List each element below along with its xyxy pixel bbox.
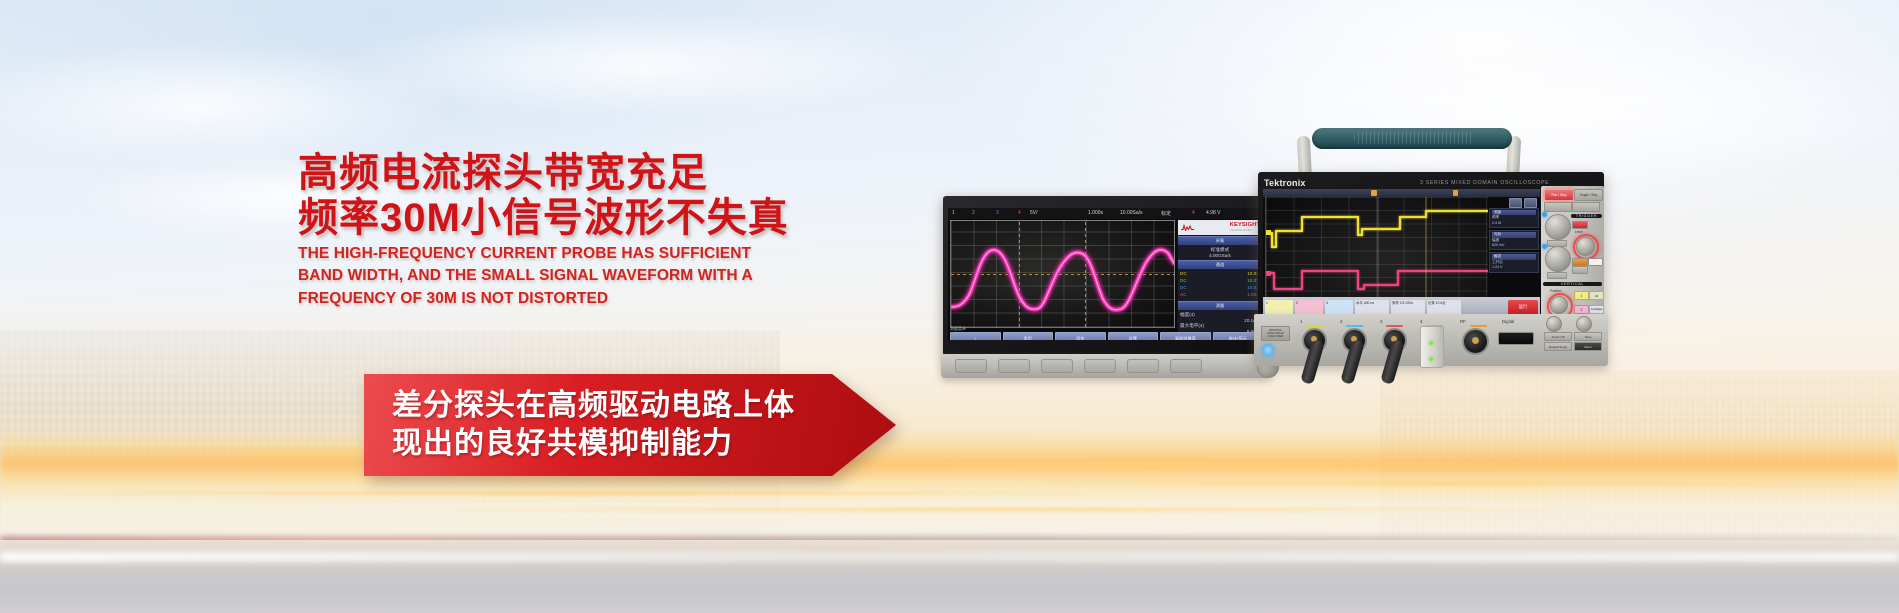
side-panel-row: 2.4 M <box>1492 221 1536 226</box>
chan-coupling: DC <box>1180 285 1187 292</box>
ch1-indicator[interactable]: 1 <box>952 210 955 216</box>
trigger-mode-button[interactable] <box>1572 266 1588 274</box>
tektronix-side-panel: 测量 频率 2.4 M 光标 幅度 620 mV 触发 上升沿 1.24 <box>1489 198 1539 296</box>
knob-a-led <box>1542 212 1547 217</box>
panel-button[interactable] <box>1041 359 1073 373</box>
keysight-waveform-grid <box>950 220 1175 328</box>
channel-4-label: 4 <box>1420 319 1422 324</box>
softkey-line-1: 统计/显示 <box>1229 336 1247 340</box>
ch3-indicator[interactable]: 3 <box>996 210 999 216</box>
trigger-force-button[interactable] <box>1572 221 1588 229</box>
vertical-section-header: VERTICAL <box>1543 282 1602 286</box>
timebase-readout[interactable]: 1.000s <box>1088 210 1103 216</box>
clear-button[interactable] <box>1572 202 1600 212</box>
side-panel-box[interactable]: 触发 上升沿 1.24 V <box>1489 252 1539 272</box>
panel-button[interactable] <box>955 359 987 373</box>
sample-rate-readout[interactable]: 10.00Sa/s <box>1120 210 1143 216</box>
rf-input-label: RF <box>1460 319 1466 324</box>
tektronix-waveform-grid <box>1265 197 1488 305</box>
headline-block: 高频电流探头带宽充足 频率30M小信号波形不失真 <box>298 152 918 240</box>
run-stop-onscreen-button[interactable]: 运行 <box>1508 300 1538 315</box>
knob-a-push-button[interactable] <box>1547 240 1567 247</box>
screen-top-strip <box>1263 189 1540 197</box>
panel-mini-buttons <box>1509 198 1537 208</box>
run-stop-button[interactable]: Run / Stop <box>1544 189 1574 201</box>
tektronix-oscilloscope: Tektronix 3 SERIES MIXED DOMAIN OSCILLOS… <box>1258 128 1604 371</box>
light-trail <box>1000 482 1899 485</box>
set-to-50-button[interactable] <box>1572 258 1588 266</box>
readout-value: 10 k点 <box>1436 301 1446 305</box>
mini-button[interactable] <box>1524 198 1537 208</box>
trigger-level-label: Level <box>1575 230 1583 234</box>
headline-line-2: 频率30M小信号波形不失真 <box>298 197 918 240</box>
digital-port-label: Digital <box>1502 319 1514 324</box>
softkey-line-1: 1 <box>974 336 976 340</box>
keysight-front-panel <box>941 354 1272 378</box>
tektronix-body: Tektronix 3 SERIES MIXED DOMAIN OSCILLOS… <box>1258 172 1604 322</box>
headline-line-1: 高频电流探头带宽充足 <box>298 152 918 195</box>
menu-button[interactable]: Menu <box>1574 342 1602 351</box>
rf-color-bar <box>1470 325 1487 327</box>
trigger-slope-button[interactable] <box>1588 258 1603 266</box>
keysight-softkey-row: 1 4 类型 频率 添加 测量 设置 ➡ <box>950 329 1263 340</box>
ribbon-line-1: 差分探头在高频驱动电路上体 <box>392 387 822 425</box>
sample-readout[interactable]: 采样 2.5 GS/s <box>1391 300 1425 315</box>
rf-pin <box>1472 337 1479 344</box>
power-led[interactable] <box>1262 344 1274 356</box>
softkey-button[interactable]: 类型 频率 <box>1003 332 1054 340</box>
record-readout[interactable]: 记录 10 k点 <box>1427 300 1461 315</box>
softkey-button[interactable]: 1 4 <box>950 332 1001 340</box>
touch-off-button[interactable]: Touch Off <box>1544 332 1572 341</box>
softkey-button[interactable]: 添加 测量 <box>1055 332 1106 340</box>
channel-chip[interactable]: 2 <box>1295 300 1323 315</box>
channel-chip-label: 1 <box>1266 301 1268 305</box>
light-trail <box>40 492 1140 495</box>
side-panel-box[interactable]: 光标 幅度 620 mV <box>1489 230 1539 250</box>
acq-section-header: 采集 <box>1178 236 1262 245</box>
attached-probe-ch4[interactable] <box>1420 326 1444 368</box>
channel-chip-label: 2 <box>1296 301 1298 305</box>
channel-2-label: 2 <box>1340 319 1342 324</box>
keysight-side-panel: KEYSIGHT TECHNOLOGIES 采集 标准模式 4.00GSa/s … <box>1177 220 1263 328</box>
chan-row: AC1.00:1 <box>1180 292 1260 299</box>
tektronix-front-connector-panel: MDO3SA SPECTRUM ANALYZER 1 2 3 4 RF <box>1254 314 1608 366</box>
acq-section-body: 标准模式 4.00GSa/s <box>1178 245 1262 260</box>
chan-section-body: DC10.0:1 DC10.0:1 DC10.0:1 AC1.00:1 <box>1178 269 1262 301</box>
channel-3-color-bar <box>1386 325 1403 327</box>
front-scale-knob[interactable] <box>1576 316 1592 332</box>
keysight-body: 1 2 3 4 5V/ 1.000s 10.00Sa/s 标定 4 4.98 V <box>943 196 1270 356</box>
softkey-line-1: 设置 <box>1129 336 1137 340</box>
panel-button[interactable] <box>998 359 1030 373</box>
acq-rate-value: 4.00GSa/s <box>1180 253 1260 258</box>
ribbon-line-2: 现出的良好共模抑制能力 <box>392 425 822 463</box>
tektronix-model-text: 3 SERIES MIXED DOMAIN OSCILLOSCOPE <box>1420 180 1549 186</box>
probe-led-upper <box>1429 341 1433 345</box>
tektronix-screen[interactable]: 测量 频率 2.4 M 光标 幅度 620 mV 触发 上升沿 1.24 <box>1263 189 1540 317</box>
trigger-section-header: TRIGGER <box>1571 214 1602 218</box>
readout-value: 400 ns <box>1364 301 1374 305</box>
keysight-wave-icon <box>1181 224 1194 231</box>
digital-port-connector[interactable] <box>1498 332 1534 345</box>
channel-2-button[interactable]: 2 <box>1574 305 1589 314</box>
side-panel-box[interactable]: 测量 频率 2.4 M <box>1489 208 1539 228</box>
panel-button[interactable] <box>1084 359 1116 373</box>
ribbon-callout: 差分探头在高频驱动电路上体 现出的良好共模抑制能力 <box>364 374 896 476</box>
panel-button[interactable] <box>1127 359 1159 373</box>
keysight-sine-trace <box>951 221 1174 327</box>
default-setup-button[interactable]: Default Setup <box>1544 342 1572 351</box>
readout-label: 水平 <box>1356 301 1363 305</box>
knob-b-push-button[interactable] <box>1547 272 1567 279</box>
trigger-level-readout[interactable]: 4.98 V <box>1206 210 1220 216</box>
softkey-button[interactable]: 设置 ➡ <box>1108 332 1159 340</box>
keysight-logo: KEYSIGHT TECHNOLOGIES <box>1178 220 1262 235</box>
horizontal-marker-icon[interactable] <box>1453 190 1458 196</box>
channel-2-color-bar <box>1346 325 1363 327</box>
meas-section-header: 测量 <box>1178 301 1262 310</box>
chan-coupling: DC <box>1180 271 1187 278</box>
probe-led-lower <box>1429 357 1433 361</box>
ch1-ground-marker <box>1266 230 1271 235</box>
softkey-line-1: 清除测量值 <box>1175 336 1196 340</box>
chan-section-header: 通道 <box>1178 260 1262 269</box>
tektronix-brand-text: Tektronix <box>1264 178 1306 188</box>
keysight-brand-text: KEYSIGHT <box>1230 223 1260 229</box>
readout-label: 记录 <box>1428 301 1435 305</box>
softkey-line-1: 类型 <box>1024 336 1032 340</box>
channel-chip[interactable]: 1 <box>1265 300 1293 315</box>
softkey-button[interactable]: 清除测量值 ➡ <box>1160 332 1211 340</box>
light-trail <box>400 508 1600 511</box>
channel-chip[interactable]: 3 <box>1325 300 1353 315</box>
spectrum-analyzer-module-label: MDO3SA SPECTRUM ANALYZER <box>1261 326 1290 341</box>
road-surface <box>0 540 1899 613</box>
trigger-marker-icon[interactable] <box>1371 190 1377 196</box>
channel-all-button[interactable]: All <box>1589 291 1604 300</box>
acq-mode-readout[interactable]: 标定 <box>1161 210 1171 217</box>
chan-row: DC10.0:1 <box>1180 285 1260 292</box>
side-panel-row: 620 mV <box>1492 243 1536 248</box>
ribbon-text: 差分探头在高频驱动电路上体 现出的良好共模抑制能力 <box>392 387 822 462</box>
tektronix-waveform-traces <box>1266 197 1488 305</box>
handle-grip-bar <box>1312 128 1512 149</box>
cloud-shape <box>330 10 950 120</box>
vertical-position-knob[interactable] <box>1550 296 1568 314</box>
multipurpose-knob-a[interactable] <box>1545 214 1571 240</box>
trigger-channel[interactable]: 4 <box>1192 210 1195 216</box>
multipurpose-knob-b[interactable] <box>1545 246 1571 272</box>
channel-1-color-bar <box>1306 325 1323 327</box>
readout-label: 采样 <box>1392 301 1399 305</box>
keysight-oscilloscope: 1 2 3 4 5V/ 1.000s 10.00Sa/s 标定 4 4.98 V <box>943 196 1270 378</box>
chan-row: DC10.0:1 <box>1180 271 1260 278</box>
volts-per-div[interactable]: 5V/ <box>1030 210 1038 216</box>
ch2-ground-marker <box>1266 271 1271 276</box>
channel-1-label: 1 <box>1300 319 1302 324</box>
save-button[interactable]: Save <box>1574 332 1602 341</box>
channel-chip-label: 3 <box>1326 301 1328 305</box>
autoset-button[interactable] <box>1544 202 1572 212</box>
keysight-status-bar: 1 2 3 4 5V/ 1.000s 10.00Sa/s 标定 4 4.98 V <box>948 208 1265 219</box>
channel-3-label: 3 <box>1380 319 1382 324</box>
rf-n-connector[interactable] <box>1462 328 1489 355</box>
keysight-screen[interactable]: 1 2 3 4 5V/ 1.000s 10.00Sa/s 标定 4 4.98 V <box>948 208 1265 340</box>
horizontal-readout[interactable]: 水平 400 ns <box>1355 300 1389 315</box>
single-seq-button[interactable]: Single / Seq <box>1574 189 1603 201</box>
mini-button[interactable] <box>1509 198 1522 208</box>
chan-row: DC10.0:1 <box>1180 278 1260 285</box>
promo-banner: 高频电流探头带宽充足 频率30M小信号波形不失真 THE HIGH-FREQUE… <box>0 0 1899 613</box>
readout-value: 2.5 GS/s <box>1400 301 1413 305</box>
side-panel-row: 1.24 V <box>1492 265 1536 270</box>
road-motion-streak <box>0 552 1899 562</box>
channel-1-button[interactable]: 1 <box>1574 291 1589 300</box>
panel-button[interactable] <box>1170 359 1202 373</box>
softkey-line-1: 添加 <box>1076 336 1084 340</box>
light-trails <box>0 430 1899 550</box>
channel-aux-button[interactable]: Aux/Digital <box>1589 305 1604 314</box>
trigger-level-knob[interactable] <box>1576 237 1595 256</box>
subtitle-english: THE HIGH-FREQUENCY CURRENT PROBE HAS SUF… <box>298 243 768 310</box>
handle-grip-texture <box>1354 132 1474 144</box>
front-position-knob[interactable] <box>1546 316 1562 332</box>
chan-coupling: AC <box>1180 292 1186 299</box>
ch2-indicator[interactable]: 2 <box>972 210 975 216</box>
chan-coupling: DC <box>1180 278 1187 285</box>
ch4-indicator[interactable]: 4 <box>1018 210 1021 216</box>
keysight-brand-sub: TECHNOLOGIES <box>1230 229 1260 232</box>
